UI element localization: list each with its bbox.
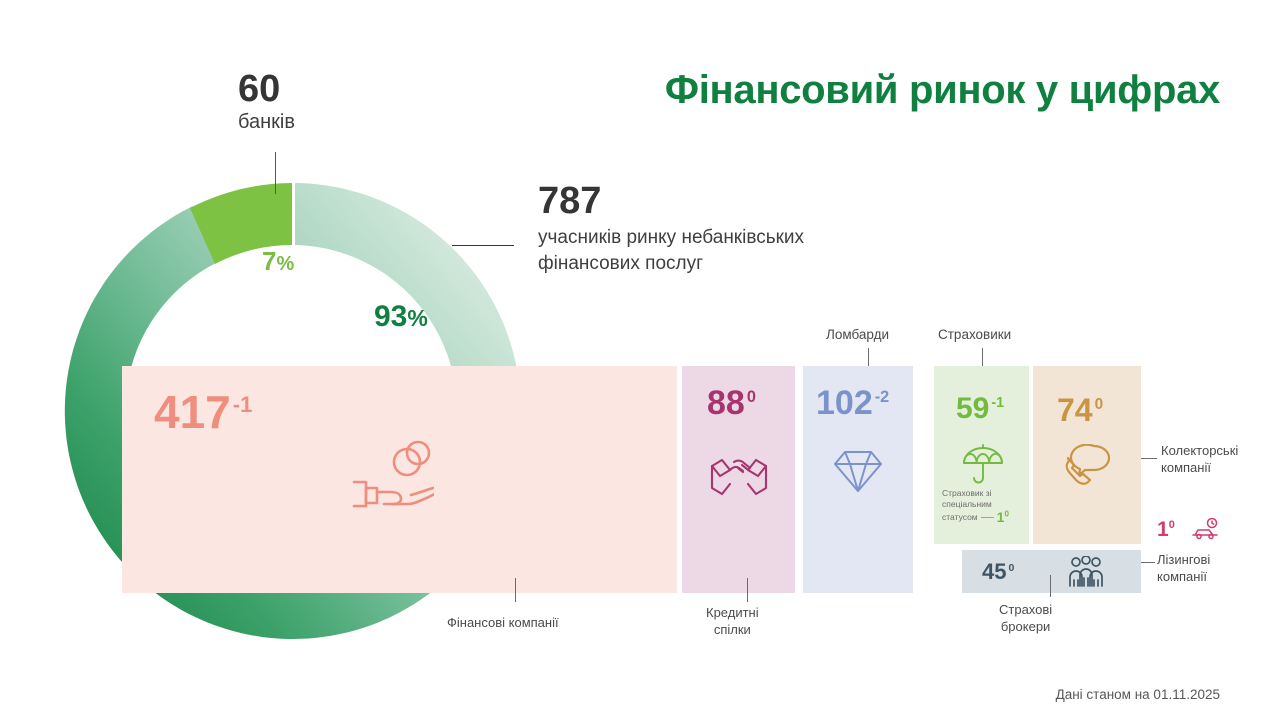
percent-banks-sign: % bbox=[276, 253, 294, 275]
percent-nonbank-value: 93 bbox=[374, 300, 407, 333]
diamond-icon bbox=[831, 448, 885, 499]
credit-unions-value: 880 bbox=[707, 386, 756, 420]
pawnshops-value: 102-2 bbox=[816, 386, 889, 420]
block-insurers[interactable]: 59-1 Страховик зі спеціальним статусом10 bbox=[934, 366, 1029, 544]
label-credit-unions: Кредитні спілки bbox=[706, 605, 759, 639]
block-pawnshops[interactable]: 102-2 bbox=[803, 366, 913, 593]
car-icon bbox=[1191, 518, 1221, 545]
label-financial-companies: Фінансові компанії bbox=[447, 615, 559, 632]
label-leasing: Лізингові компанії bbox=[1157, 552, 1210, 586]
collectors-delta: 0 bbox=[1095, 396, 1104, 413]
block-collectors[interactable]: 740 bbox=[1033, 366, 1141, 544]
kpi-banks: 60 банків bbox=[238, 70, 295, 134]
handshake-icon bbox=[710, 448, 768, 501]
percent-nonbank: 93% bbox=[374, 300, 428, 334]
label-insurance-brokers: Страхові брокери bbox=[999, 602, 1052, 636]
tick-collectors bbox=[1141, 458, 1157, 459]
insurers-special-status-note: Страховик зі спеціальним статусом10 bbox=[942, 488, 1028, 527]
infographic-canvas: Фінансовий ринок у цифрах bbox=[0, 0, 1280, 720]
percent-banks: 7% bbox=[262, 246, 294, 277]
insurance-brokers-delta: 0 bbox=[1008, 562, 1014, 574]
kpi-banks-value: 60 bbox=[238, 70, 295, 109]
financial-companies-delta: -1 bbox=[233, 392, 253, 417]
label-pawnshops: Ломбарди bbox=[826, 327, 889, 342]
tick-pawnshops bbox=[868, 348, 869, 366]
leasing-delta: 0 bbox=[1169, 519, 1175, 531]
data-as-of-footer: Дані станом на 01.11.2025 bbox=[1056, 687, 1220, 702]
insurers-note-value: 10 bbox=[997, 509, 1009, 525]
tick-insurance-brokers bbox=[1050, 575, 1051, 597]
label-collectors: Колекторські компанії bbox=[1161, 443, 1238, 477]
kpi-banks-caption: банків bbox=[238, 111, 295, 134]
leasing-value: 10 bbox=[1157, 518, 1175, 542]
kpi-nonbank: 787 учасників ринку небанківських фінанс… bbox=[538, 182, 804, 276]
page-title: Фінансовий ринок у цифрах bbox=[665, 68, 1220, 113]
kpi-nonbank-value: 787 bbox=[538, 182, 804, 222]
credit-unions-delta: 0 bbox=[747, 388, 756, 406]
tick-insurers bbox=[982, 348, 983, 366]
financial-companies-value: 417-1 bbox=[154, 389, 252, 435]
leader-line-banks bbox=[275, 152, 276, 194]
insurance-brokers-value: 450 bbox=[982, 561, 1014, 583]
umbrella-icon bbox=[961, 444, 1005, 491]
kpi-nonbank-caption: учасників ринку небанківських фінансових… bbox=[538, 225, 804, 276]
block-insurance-brokers[interactable]: 450 bbox=[962, 550, 1141, 593]
percent-nonbank-sign: % bbox=[407, 305, 427, 331]
collectors-value: 740 bbox=[1057, 394, 1103, 426]
tick-credit-unions bbox=[747, 578, 748, 602]
pawnshops-delta: -2 bbox=[875, 388, 890, 406]
people-group-icon bbox=[1066, 556, 1106, 593]
percent-banks-value: 7 bbox=[262, 246, 276, 276]
tick-financial-companies bbox=[515, 578, 516, 602]
leader-line-nonbank bbox=[452, 245, 514, 246]
label-insurers: Страховики bbox=[938, 327, 1011, 342]
phone-chat-icon bbox=[1061, 444, 1113, 493]
insurers-delta: -1 bbox=[991, 395, 1004, 411]
insurers-note-dash bbox=[981, 517, 994, 518]
insurers-value: 59-1 bbox=[956, 394, 1004, 424]
tick-leasing bbox=[1141, 562, 1155, 563]
hand-coins-icon bbox=[352, 440, 434, 521]
block-credit-unions[interactable]: 880 bbox=[682, 366, 795, 593]
